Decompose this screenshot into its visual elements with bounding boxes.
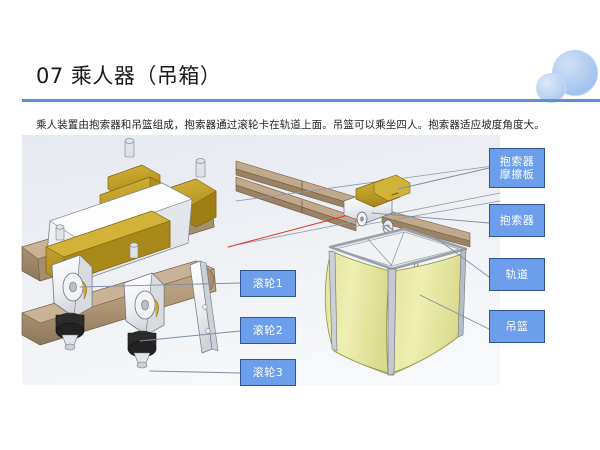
callout-roller-3[interactable]: 滚轮3 (240, 359, 296, 386)
callout-gripper[interactable]: 抱索器 (489, 204, 545, 237)
callout-line-1: 滚轮1 (253, 277, 284, 290)
callout-line-1: 抱索器 (500, 214, 535, 227)
callout-line-1: 抱索器 (500, 155, 535, 168)
callout-line-1: 吊篮 (506, 320, 529, 333)
callout-cabin[interactable]: 吊篮 (489, 310, 545, 343)
page-subtitle: 乘人装置由抱索器和吊篮组成，抱索器通过滚轮卡在轨道上面。吊篮可以乘坐四人。抱索器… (36, 117, 545, 132)
callout-track[interactable]: 轨道 (489, 258, 545, 291)
page-title: 07 乘人器（吊箱） (36, 60, 221, 90)
callout-roller-1[interactable]: 滚轮1 (240, 270, 296, 297)
callout-line-1: 滚轮2 (253, 324, 284, 337)
callout-line-2: 摩擦板 (500, 168, 535, 181)
title-divider (22, 99, 600, 102)
callout-line-1: 滚轮3 (253, 366, 284, 379)
callout-roller-2[interactable]: 滚轮2 (240, 317, 296, 344)
callout-gripper-friction-plate[interactable]: 抱索器 摩擦板 (489, 148, 545, 188)
callout-line-1: 轨道 (506, 268, 529, 281)
